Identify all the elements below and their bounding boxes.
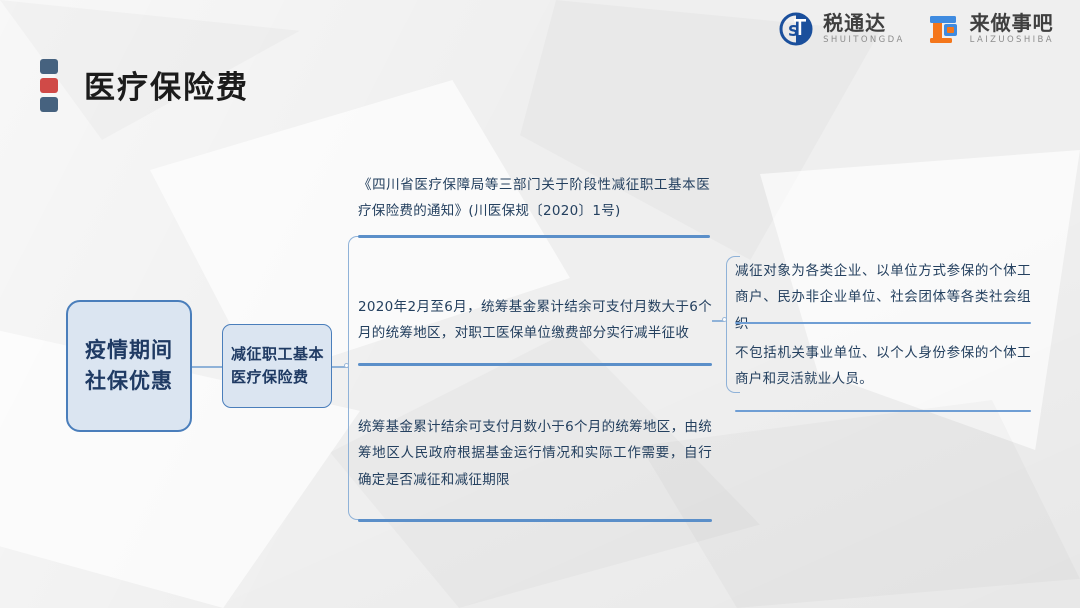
leaf-underline [358, 519, 712, 522]
leaf-underline [735, 410, 1031, 412]
mindmap: 《四川省医疗保障局等三部门关于阶段性减征职工基本医疗保险费的通知》(川医保规〔2… [0, 0, 1080, 608]
leaf-excluded-entities[interactable]: 不包括机关事业单位、以个人身份参保的个体工商户和灵活就业人员。 [735, 330, 1031, 412]
leaf-excluded-entities-text: 不包括机关事业单位、以个人身份参保的个体工商户和灵活就业人员。 [735, 345, 1031, 387]
mindmap-node-root[interactable]: 疫情期间 社保优惠 [66, 300, 192, 432]
leaf-policy-document[interactable]: 《四川省医疗保障局等三部门关于阶段性减征职工基本医疗保险费的通知》(川医保规〔2… [358, 172, 710, 238]
mindmap-node-root-line1: 疫情期间 [68, 335, 190, 367]
mindmap-node-child-line2: 医疗保险费 [231, 366, 331, 389]
leaf-reduction-under-six-months-text: 统筹基金累计结余可支付月数小于6个月的统筹地区，由统筹地区人民政府根据基金运行情… [358, 419, 712, 488]
leaf-underline [358, 235, 710, 238]
leaf-underline [358, 363, 712, 366]
slide-canvas: 医疗保险费 S 税通达 SHUITONGDA [0, 0, 1080, 608]
leaf-reduction-under-six-months[interactable]: 统筹基金累计结余可支付月数小于6个月的统筹地区，由统筹地区人民政府根据基金运行情… [358, 372, 712, 522]
leaf-reduction-over-six-months-text: 2020年2月至6月，统筹基金累计结余可支付月数大于6个月的统筹地区，对职工医保… [358, 299, 712, 341]
leaf-reduction-over-six-months[interactable]: 2020年2月至6月，统筹基金累计结余可支付月数大于6个月的统筹地区，对职工医保… [358, 246, 712, 366]
mindmap-node-child[interactable]: 减征职工基本 医疗保险费 [222, 324, 332, 408]
wire-root-to-child [192, 366, 222, 368]
leaf-underline [735, 322, 1031, 324]
mindmap-node-root-line2: 社保优惠 [68, 366, 190, 398]
leaf-policy-document-text: 《四川省医疗保障局等三部门关于阶段性减征职工基本医疗保险费的通知》(川医保规〔2… [358, 177, 710, 219]
mindmap-node-child-line1: 减征职工基本 [231, 343, 331, 366]
leaf-eligible-entities[interactable]: 减征对象为各类企业、以单位方式参保的个体工商户、民办非企业单位、社会团体等各类社… [735, 246, 1031, 324]
